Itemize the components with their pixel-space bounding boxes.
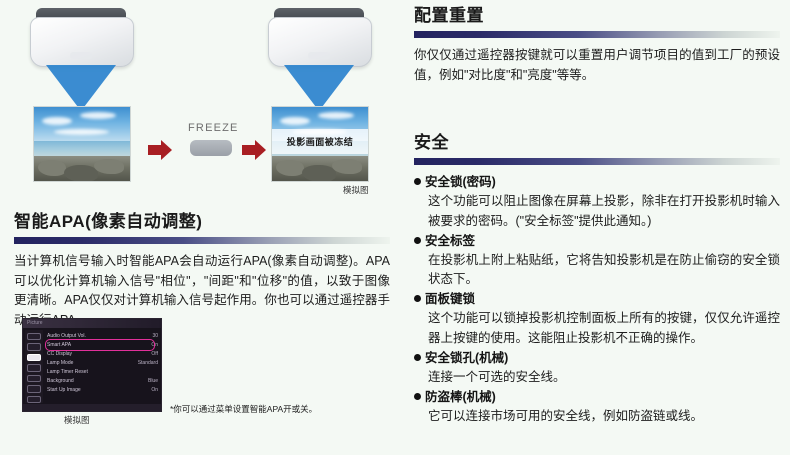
osd-row-label: Lamp Timer Reset [47,369,88,375]
security-item-heading: 安全标签 [425,232,475,251]
right-column: 配置重置 你仅仅通过遥控器按键就可以重置用户调节项目的值到工厂的预设值，例如"对… [400,0,790,455]
figure-caption-top: 模拟图 [343,184,369,196]
security-item: 安全锁(密码) 这个功能可以阻止图像在屏幕上投影，除非在打开投影机时输入被要求的… [414,173,780,231]
security-item-heading: 面板键锁 [425,290,475,309]
security-item-body: 连接一个可选的安全线。 [414,368,780,387]
projector-right [268,8,370,70]
rocks-region [34,156,130,181]
freeze-key[interactable] [190,140,232,156]
security-item-body: 这个功能可以阻止图像在屏幕上投影，除非在打开投影机时输入被要求的密码。("安全标… [414,192,780,231]
osd-row-label: Lamp Mode [47,360,73,366]
osd-row-label: Audio Output Vol. [47,333,86,339]
cloud [54,129,109,135]
osd-menu-screenshot: Picture Audio Output Vol. 30 Smart APA O… [22,318,162,412]
osd-row-label: Background [47,378,74,384]
osd-row-value: 30 [152,333,158,339]
freeze-illustration: FREEZE [0,0,400,200]
bullet-dot-icon [414,178,421,185]
projector-lens [308,52,330,59]
reset-section: 配置重置 你仅仅通过遥控器按键就可以重置用户调节项目的值到工厂的预设值，例如"对… [414,6,780,85]
osd-row[interactable]: Lamp Timer Reset [47,367,158,376]
osd-header-label: Picture [23,319,161,328]
osd-row-value: Off [151,351,158,357]
apa-footnote: *你可以通过菜单设置智能APA开或关。 [170,403,317,415]
security-item: 防盗棒(机械) 它可以连接市场可用的安全线，例如防盗链或线。 [414,388,780,426]
apa-section: 智能APA(像素自动调整) 当计算机信号输入时智能APA会自动运行APA(像素自… [14,212,390,330]
rock [94,159,124,174]
rock [332,159,362,174]
rock [302,165,336,182]
left-column: FREEZE [0,0,400,455]
bullet-dot-icon [414,354,421,361]
cloud [80,112,116,119]
osd-row-label: Start Up Image [47,387,81,393]
projector-body [268,17,372,67]
osd-footer-bar [23,404,161,411]
security-item-heading: 防盗棒(机械) [425,388,496,407]
security-item-body: 这个功能可以锁掉投影机控制面板上所有的按键，仅仅允许遥控器上按键的使用。这能阻止… [414,309,780,348]
security-title: 安全 [414,133,780,153]
projector-left [30,8,132,70]
osd-row[interactable]: Start Up Image On [47,385,158,394]
rocks-region [272,156,368,181]
osd-row-value: Standard [138,360,158,366]
light-beam-right [284,65,354,111]
projector-body [30,17,134,67]
bullet-dot-icon [414,295,421,302]
osd-icon-install[interactable] [27,375,41,382]
osd-row-value: On [151,387,158,393]
osd-icon-input[interactable] [27,343,41,350]
osd-highlight-marker [45,339,155,351]
reset-divider [414,31,780,38]
freeze-button-label: FREEZE [188,122,239,134]
security-item-body: 它可以连接市场可用的安全线，例如防盗链或线。 [414,407,780,426]
security-item-heading-row: 面板键锁 [414,290,780,309]
security-item-heading-row: 防盗棒(机械) [414,388,780,407]
security-item-body: 在投影机上附上粘贴纸，它将告知投影机是在防止偷窃的安全锁状态下。 [414,251,780,290]
rock [38,160,66,176]
projected-image-right-frozen: 投影画面被冻结 [271,106,369,182]
light-beam-left [46,65,116,111]
osd-icon-info[interactable] [27,396,41,403]
security-item-heading: 安全锁(密码) [425,173,496,192]
security-section: 安全 安全锁(密码) 这个功能可以阻止图像在屏幕上投影，除非在打开投影机时输入被… [414,133,780,427]
rock [276,160,304,176]
page-root: FREEZE [0,0,790,455]
reset-paragraph: 你仅仅通过遥控器按键就可以重置用户调节项目的值到工厂的预设值，例如"对比度"和"… [414,46,780,85]
security-item-heading-row: 安全锁孔(机械) [414,349,780,368]
security-item-heading-row: 安全标签 [414,232,780,251]
cloud [280,117,310,125]
cloud [42,117,72,125]
figure-caption-osd: 模拟图 [64,414,90,426]
bullet-dot-icon [414,237,421,244]
security-item-heading-row: 安全锁(密码) [414,173,780,192]
reset-title: 配置重置 [414,6,780,26]
sea-region [34,141,130,157]
bullet-dot-icon [414,393,421,400]
security-item: 安全标签 在投影机上附上粘贴纸，它将告知投影机是在防止偷窃的安全锁状态下。 [414,232,780,290]
projector-lens [70,52,92,59]
osd-row[interactable]: Background Blue [47,376,158,385]
osd-row-label: CC Display [47,351,72,357]
cloud [318,112,354,119]
apa-divider [14,237,390,244]
security-item-heading: 安全锁孔(机械) [425,349,508,368]
apa-title: 智能APA(像素自动调整) [14,212,390,232]
osd-icon-sidebar [25,330,43,403]
osd-icon-setup-selected[interactable] [27,354,41,361]
security-item: 安全锁孔(机械) 连接一个可选的安全线。 [414,349,780,387]
security-item: 面板键锁 这个功能可以锁掉投影机控制面板上所有的按键，仅仅允许遥控器上按键的使用… [414,290,780,348]
rock [64,165,98,182]
osd-icon-menu[interactable] [27,364,41,371]
projected-image-left [33,106,131,182]
osd-row[interactable]: Lamp Mode Standard [47,358,158,367]
frozen-overlay-text: 投影画面被冻结 [272,129,368,154]
osd-icon-network[interactable] [27,385,41,392]
osd-icon-picture[interactable] [27,333,41,340]
security-divider [414,158,780,165]
osd-row-value: Blue [148,378,158,384]
